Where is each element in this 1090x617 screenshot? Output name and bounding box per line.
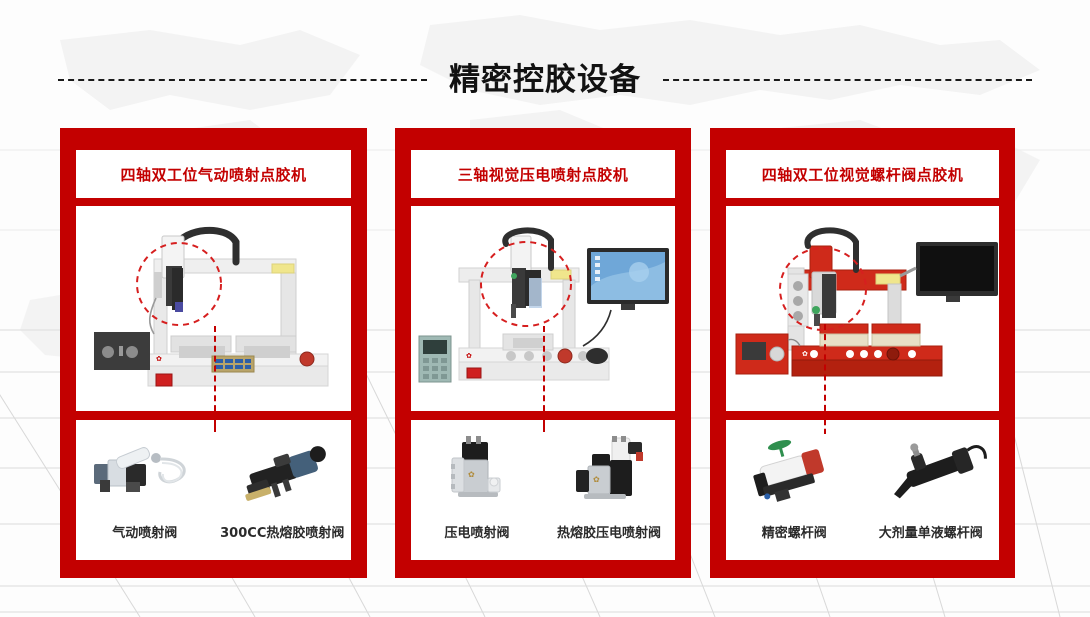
accessory-label: 热熔胶压电喷射阀 (557, 522, 661, 541)
accessory-item[interactable]: 气动喷射阀 (82, 434, 209, 541)
accessory-panel: 精密螺杆阀 (726, 420, 999, 560)
card-title: 三轴视觉压电喷射点胶机 (458, 164, 629, 185)
accessory-item[interactable]: 300CC热熔胶喷射阀 (219, 434, 346, 541)
300cc-hot-melt-glue-jet-valve-photo (223, 434, 341, 506)
card-title: 四轴双工位气动喷射点胶机 (120, 164, 306, 185)
svg-text:✿: ✿ (593, 475, 600, 484)
product-card-pneumatic-jet[interactable]: 四轴双工位气动喷射点胶机 (60, 128, 367, 578)
precision-screw-valve-photo (735, 434, 853, 506)
accessory-label: 气动喷射阀 (112, 522, 177, 541)
piezo-jet-valve-photo: ✿ (418, 434, 536, 506)
page-title: 精密控胶设备 (427, 50, 663, 110)
product-card-piezo-jet[interactable]: 三轴视觉压电喷射点胶机 (395, 128, 691, 578)
callout-pointer-line (214, 326, 216, 411)
high-dose-single-liquid-screw-valve-photo (872, 434, 990, 506)
header-divider-left (58, 79, 427, 81)
header-divider-right (663, 79, 1032, 81)
product-card-screw-valve[interactable]: 四轴双工位视觉螺杆阀点胶机 (710, 128, 1015, 578)
accessory-panel: ✿ 压电喷射阀 (411, 420, 675, 560)
accessory-label: 大剂量单液螺杆阀 (879, 522, 983, 541)
accessory-panel: 气动喷射阀 (76, 420, 351, 560)
card-title: 四轴双工位视觉螺杆阀点胶机 (762, 164, 964, 185)
accessory-label: 精密螺杆阀 (762, 522, 827, 541)
accessory-label: 300CC热熔胶喷射阀 (220, 522, 344, 541)
accessory-item[interactable]: 大剂量单液螺杆阀 (868, 434, 994, 541)
accessory-item[interactable]: 精密螺杆阀 (731, 434, 857, 541)
card-title-panel: 三轴视觉压电喷射点胶机 (411, 150, 675, 198)
four-axis-dual-station-vision-screw-valve-dispenser-photo: ✿ (726, 206, 999, 411)
svg-text:✿: ✿ (802, 350, 808, 358)
svg-text:✿: ✿ (466, 352, 472, 360)
svg-text:✿: ✿ (468, 470, 475, 479)
machine-photo-panel[interactable]: ✿ (411, 206, 675, 411)
hot-melt-piezo-jet-valve-photo: ✿ (550, 434, 668, 506)
svg-text:✿: ✿ (156, 355, 162, 363)
accessory-item[interactable]: ✿ 热熔胶压电喷射阀 (548, 434, 669, 541)
accessory-item[interactable]: ✿ 压电喷射阀 (416, 434, 537, 541)
pneumatic-jet-valve-photo (86, 434, 204, 506)
callout-pointer-line (543, 326, 545, 411)
accessory-label: 压电喷射阀 (444, 522, 509, 541)
card-title-panel: 四轴双工位视觉螺杆阀点胶机 (726, 150, 999, 198)
card-title-panel: 四轴双工位气动喷射点胶机 (76, 150, 351, 198)
machine-photo-panel[interactable]: ✿ (76, 206, 351, 411)
product-card-grid: 四轴双工位气动喷射点胶机 (0, 128, 1090, 580)
page-header: 精密控胶设备 (0, 50, 1090, 110)
machine-photo-panel[interactable]: ✿ (726, 206, 999, 411)
callout-pointer-line (824, 324, 826, 411)
